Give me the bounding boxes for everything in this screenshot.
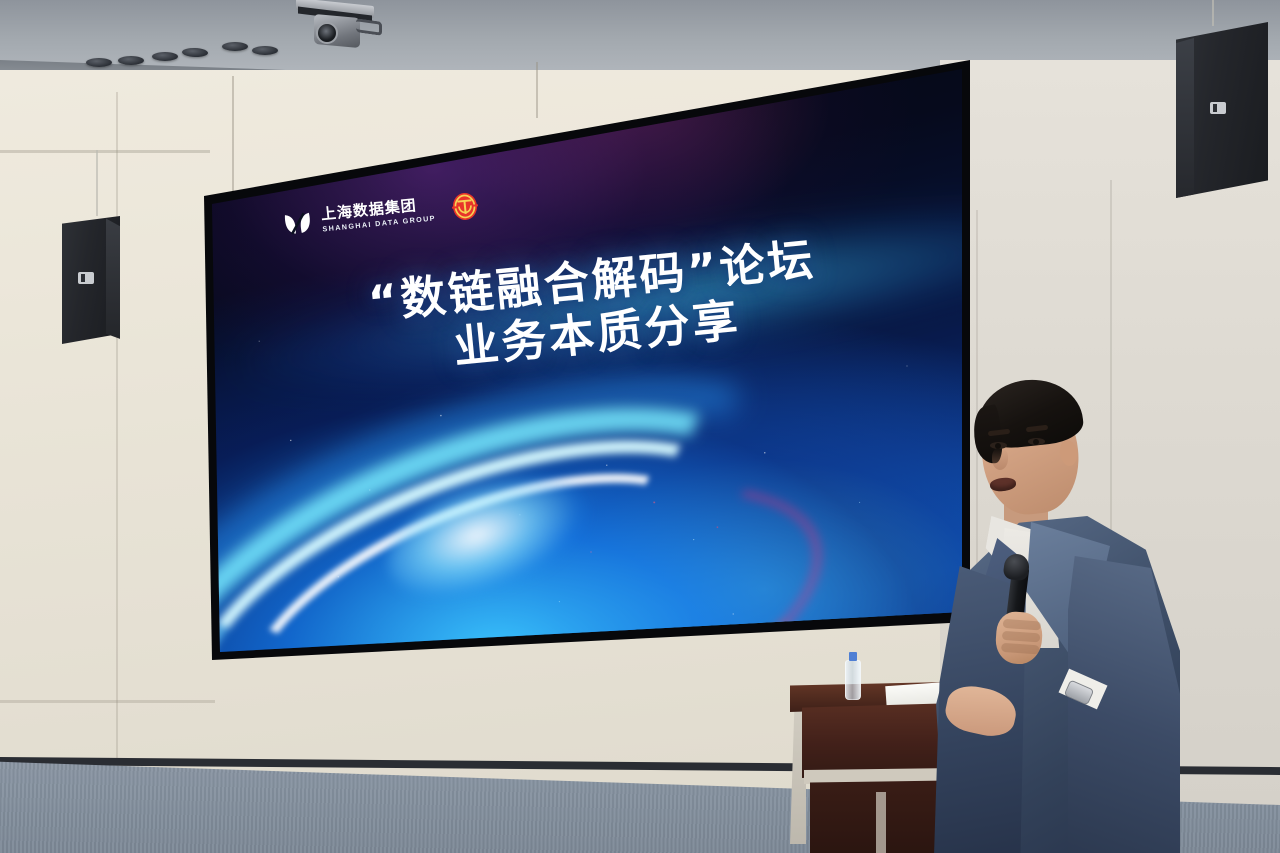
bottle-cap <box>849 652 857 661</box>
presenter-finger <box>1002 631 1041 643</box>
shanghai-data-group-logo: 上海数据集团 SHANGHAI DATA GROUP <box>281 194 436 239</box>
acftu-emblem-icon <box>447 189 482 224</box>
presenter-mic-hand <box>992 576 1048 662</box>
presenter-hand <box>994 610 1044 665</box>
presenter-finger <box>1001 643 1040 655</box>
led-video-wall[interactable]: 上海数据集团 SHANGHAI DATA GROUP <box>196 56 986 676</box>
conference-room-scene: 上海数据集团 SHANGHAI DATA GROUP <box>0 0 1280 853</box>
presenter-right-hand-area <box>940 670 1060 750</box>
water-bottle <box>845 652 861 700</box>
wall-speaker-left <box>62 216 120 344</box>
presenter-nose <box>992 448 1008 470</box>
projector-lens-icon <box>316 22 338 44</box>
jbl-logo-icon <box>78 272 94 284</box>
sdg-logo-text: 上海数据集团 SHANGHAI DATA GROUP <box>320 197 436 233</box>
ceiling-downlight-icon <box>152 52 178 61</box>
presenter-finger <box>1003 619 1042 631</box>
slide-title: “数链融合解码”论坛 业务本质分享 <box>291 225 899 391</box>
ceiling-downlight-icon <box>86 58 112 67</box>
presenter-eye <box>1028 438 1045 445</box>
screen-display-surface[interactable]: 上海数据集团 SHANGHAI DATA GROUP <box>196 56 986 676</box>
ceiling-downlight-icon <box>222 42 248 51</box>
ceiling-downlight-icon <box>252 46 278 55</box>
speaker-suspension-wire <box>96 150 98 216</box>
speaker-side-panel <box>1176 22 1194 198</box>
slide-content: 上海数据集团 SHANGHAI DATA GROUP <box>196 56 986 673</box>
ceiling-projector <box>292 2 388 50</box>
wall-speaker-right <box>1176 22 1268 198</box>
wall-trim-line <box>0 700 215 703</box>
slide-logo-row: 上海数据集团 SHANGHAI DATA GROUP <box>281 189 482 240</box>
jbl-logo-icon <box>1210 102 1226 114</box>
wall-panel-seam <box>116 92 118 792</box>
wall-trim-line <box>0 150 210 153</box>
sdg-mark-icon <box>281 206 314 239</box>
presenter <box>930 370 1180 853</box>
presenter-right-hand <box>942 681 1020 741</box>
speaker-side-panel <box>106 216 120 344</box>
podium-base-groove <box>876 792 886 853</box>
ceiling-downlight-icon <box>118 56 144 65</box>
bottle-body <box>845 660 861 700</box>
